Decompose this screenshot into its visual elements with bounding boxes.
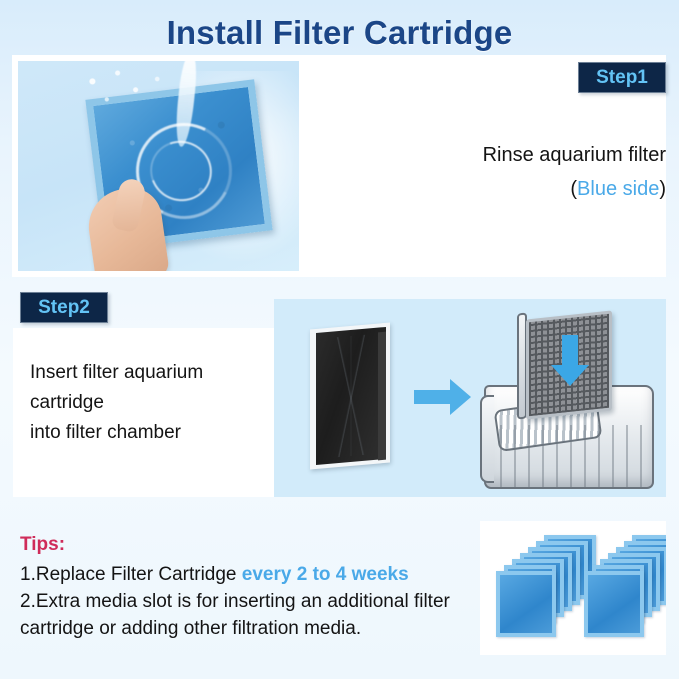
step2-instruction-line3: into filter chamber — [30, 418, 280, 448]
right-arrow-icon — [414, 377, 472, 417]
step1-photo — [18, 61, 299, 271]
mini-pad-front — [584, 571, 644, 637]
step1-badge: Step1 — [578, 62, 666, 93]
step2-illustration — [274, 299, 666, 497]
step2-instruction-line2: cartridge — [30, 388, 280, 418]
tips-item-2: 2.Extra media slot is for inserting an a… — [20, 588, 480, 642]
step1-instruction-line2: (Blue side) — [398, 172, 666, 206]
carbon-cartridge — [316, 327, 386, 465]
mini-pad-front — [496, 571, 556, 637]
infographic-page: Install Filter Cartridge Step1 Rinse aqu… — [0, 0, 679, 679]
tips-item-1-number: 1. — [20, 564, 36, 585]
tips-item-1: 1.Replace Filter Cartridge every 2 to 4 … — [20, 561, 480, 588]
step1-instruction: Rinse aquarium filter (Blue side) — [398, 138, 666, 206]
water-droplets — [78, 67, 198, 127]
tips-item-2-text: Extra media slot is for inserting an add… — [20, 591, 450, 639]
tips-label: Tips: — [20, 531, 480, 558]
blue-side-highlight: Blue side — [577, 178, 659, 200]
tips-item-2-number: 2. — [20, 591, 36, 612]
down-arrow-icon — [550, 335, 590, 387]
tips-block: Tips: 1.Replace Filter Cartridge every 2… — [20, 531, 480, 642]
page-title: Install Filter Cartridge — [0, 14, 679, 52]
filter-pads-stack-image — [480, 521, 666, 655]
cartridge-edge — [378, 332, 386, 461]
tips-item-1-text: Replace Filter Cartridge — [36, 564, 242, 585]
step1-instruction-line1: Rinse aquarium filter — [398, 138, 666, 172]
tips-item-1-highlight: every 2 to 4 weeks — [242, 564, 409, 585]
step1-badge-label: Step1 — [596, 67, 648, 89]
step2-instruction-line1: Insert filter aquarium — [30, 358, 280, 388]
paren-close: ) — [659, 178, 666, 200]
step2-badge: Step2 — [20, 292, 108, 323]
step2-badge-label: Step2 — [38, 297, 90, 319]
chamber-ribs — [488, 425, 650, 487]
step2-instruction: Insert filter aquarium cartridge into fi… — [30, 358, 280, 448]
